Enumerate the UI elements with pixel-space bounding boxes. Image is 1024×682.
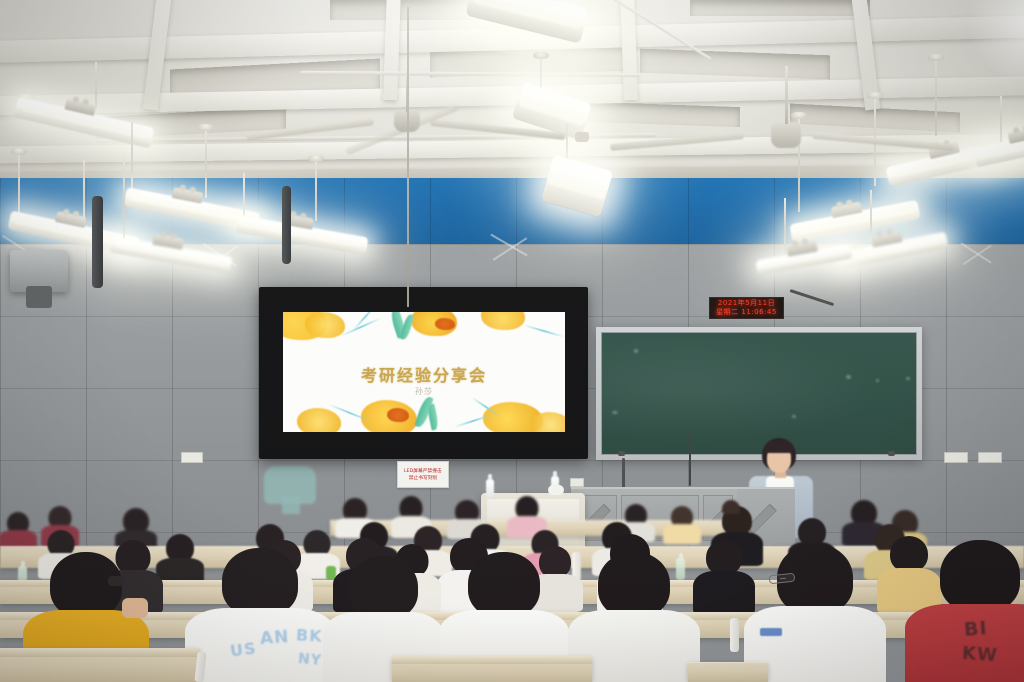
tshirt-graphic: BK — [296, 625, 324, 645]
lamp-rod — [870, 190, 872, 242]
student-head — [940, 540, 1020, 612]
slide-subtitle: 孙莎 — [283, 386, 565, 397]
lamp-rod — [784, 198, 786, 254]
leaf-decor — [426, 403, 439, 430]
wall-plate-center — [570, 478, 584, 487]
student-row3 — [696, 540, 752, 610]
student-row5 — [664, 506, 700, 538]
slide-title: 考研经验分享会 — [283, 362, 565, 386]
desk-leg — [730, 618, 739, 652]
student-head — [598, 552, 670, 618]
student-head — [222, 548, 298, 616]
wall-plate-right-a — [944, 452, 968, 463]
wall-speaker — [92, 196, 103, 288]
student-row5 — [0, 512, 36, 546]
lamp-rod — [123, 158, 125, 246]
rod-cap — [308, 155, 324, 162]
wall-speaker-2 — [282, 186, 291, 264]
lamp-rod — [83, 160, 85, 222]
tshirt-graphic: NY — [297, 651, 322, 669]
led-display-screen[interactable]: 考研经验分享会 孙莎 — [259, 287, 588, 459]
flower-decor — [297, 408, 341, 432]
student-row5 — [508, 496, 546, 532]
student-head — [468, 552, 540, 618]
projector-mount — [26, 286, 52, 308]
rod-cap — [533, 52, 549, 59]
rod-cap — [867, 92, 883, 99]
microphone-stem-2 — [689, 434, 691, 486]
ticker-line-1: 2021年5月11日 — [718, 299, 775, 308]
flower-decor — [387, 408, 409, 422]
rod-cap — [11, 148, 27, 155]
flower-decor — [531, 412, 565, 432]
ticker-line-2: 星期二 11:06:45 — [716, 308, 777, 317]
student-head — [348, 556, 418, 620]
desk-front-row-right — [688, 662, 768, 682]
water-bottle-podium-left — [486, 479, 494, 498]
slide-area: 考研经验分享会 孙莎 — [283, 312, 565, 432]
ceiling-vent — [575, 132, 589, 142]
student-glasses-white — [756, 544, 874, 682]
led-notice-sign: LED屏幕严禁撞击 禁止书写刻划 — [397, 461, 449, 488]
flower-decor — [435, 318, 455, 330]
tshirt-graphic: US — [229, 638, 258, 660]
desk-edge-front — [0, 648, 200, 657]
wall-plate-right-b — [978, 452, 1002, 463]
student-glasses-temple — [108, 576, 124, 586]
leaf-decor — [400, 313, 414, 340]
led-ticker-display: 2021年5月11日 星期二 11:06:45 — [709, 297, 784, 319]
notice-line-2: 禁止书写刻划 — [409, 475, 438, 482]
student-dark-shirt — [578, 552, 690, 682]
tshirt-graphic: BI — [963, 617, 988, 641]
classroom-photo: 考研经验分享会 孙莎 2021年5月11日 星期二 11:06:45 LED屏幕… — [0, 0, 1024, 682]
presenter-bangs — [764, 441, 794, 453]
flower-decor — [305, 312, 345, 338]
wisp-decor — [524, 324, 565, 337]
lamp-rod — [95, 62, 97, 108]
hanging-wire — [407, 7, 409, 307]
rod-cap — [791, 112, 807, 119]
lamp-rod — [205, 128, 207, 198]
lamp-rod — [935, 58, 937, 136]
lamp-rod — [315, 159, 317, 221]
tshirt-graphic: KW — [961, 643, 998, 666]
tshirt-graphic: AN — [259, 627, 290, 649]
desk-edge-front — [392, 656, 592, 664]
lamp-rod — [1000, 96, 1002, 142]
wall-plate-left — [181, 452, 203, 463]
shirt-logo — [760, 628, 782, 636]
student-hand — [122, 598, 148, 618]
notice-line-1: LED屏幕严禁撞击 — [404, 468, 442, 475]
rod-cap — [928, 54, 944, 61]
fan-rod — [785, 66, 788, 124]
lamp-rod — [566, 124, 568, 162]
student-hair-bun — [722, 500, 740, 514]
blackboard-surface — [601, 332, 917, 455]
rod-cap — [198, 124, 214, 131]
ceiling-fan-right — [686, 122, 886, 164]
flower-decor — [481, 312, 525, 330]
podium-object — [548, 485, 564, 495]
